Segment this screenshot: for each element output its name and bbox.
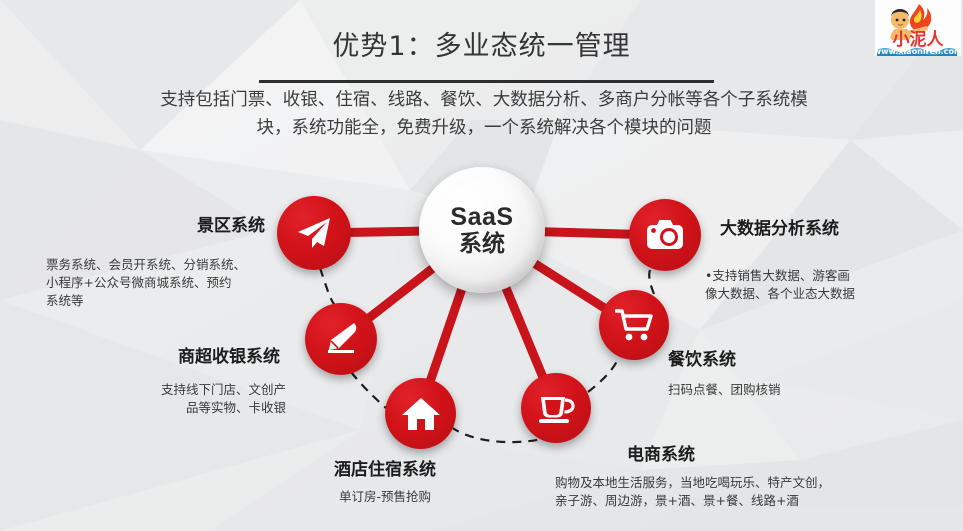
slide-canvas: 优势1：多业态统一管理 支持包括门票、收银、住宿、线路、餐饮、大数据分析、多商户… xyxy=(0,0,963,531)
pencil-icon xyxy=(321,319,361,359)
label-scenic-body-line-3: 系统等 xyxy=(46,292,291,310)
label-ecommerce-body-line-2: 亲子游、周边游，景+酒、景+餐、线路+酒 xyxy=(555,492,955,510)
label-bigdata-body-line-2: 像大数据、各个业态大数据 xyxy=(705,285,955,303)
label-scenic-body-line-2: 小程序+公众号微商城系统、预约 xyxy=(46,274,291,292)
label-ecommerce-body: 购物及本地生活服务，当地吃喝玩乐、特产文创， 亲子游、周边游，景+酒、景+餐、线… xyxy=(555,474,955,510)
label-ecommerce-body-line-1: 购物及本地生活服务，当地吃喝玩乐、特产文创， xyxy=(555,474,955,492)
hub-title-line-2: 系统 xyxy=(459,231,505,257)
label-bigdata-heading: 大数据分析系统 xyxy=(720,214,960,239)
hub-title-line-1: SaaS xyxy=(450,203,513,231)
label-retail-body-line-2: 品等实物、卡收银 xyxy=(50,399,286,417)
label-hotel-body-line-1: 单订房-预售抢购 xyxy=(265,488,505,506)
house-icon xyxy=(401,396,441,432)
label-bigdata-body-line-1: •支持销售大数据、游客画 xyxy=(705,267,955,285)
label-scenic-heading: 景区系统 xyxy=(40,211,265,236)
label-retail-body-line-1: 支持线下门店、文创产 xyxy=(50,381,286,399)
label-hotel-heading: 酒店住宿系统 xyxy=(265,455,505,480)
shopping-cart-icon xyxy=(615,308,653,342)
label-hotel-body: 单订房-预售抢购 xyxy=(265,488,505,506)
label-retail-heading: 商超收银系统 xyxy=(50,342,280,367)
node-retail-pos-system[interactable] xyxy=(305,303,377,375)
paper-plane-icon xyxy=(294,213,334,253)
node-hotel-system[interactable] xyxy=(385,378,456,449)
label-bigdata-body: •支持销售大数据、游客画 像大数据、各个业态大数据 xyxy=(705,267,955,303)
coffee-cup-icon xyxy=(536,391,576,425)
label-catering-body-line-1: 扫码点餐、团购核销 xyxy=(668,381,918,399)
node-scenic-system[interactable] xyxy=(277,196,351,270)
label-retail-body: 支持线下门店、文创产 品等实物、卡收银 xyxy=(50,381,286,417)
camera-icon xyxy=(646,218,684,252)
label-scenic-body: 票务系统、会员开系统、分销系统、 小程序+公众号微商城系统、预约 系统等 xyxy=(46,256,291,310)
center-hub[interactable]: SaaS 系统 xyxy=(419,167,545,293)
node-bigdata-system[interactable] xyxy=(629,199,701,271)
label-ecommerce-heading: 电商系统 xyxy=(627,440,877,465)
label-catering-heading: 餐饮系统 xyxy=(668,345,898,370)
label-scenic-body-line-1: 票务系统、会员开系统、分销系统、 xyxy=(46,256,291,274)
node-ecommerce-system[interactable] xyxy=(521,373,591,443)
label-catering-body: 扫码点餐、团购核销 xyxy=(668,381,918,399)
node-catering-system[interactable] xyxy=(599,290,669,360)
